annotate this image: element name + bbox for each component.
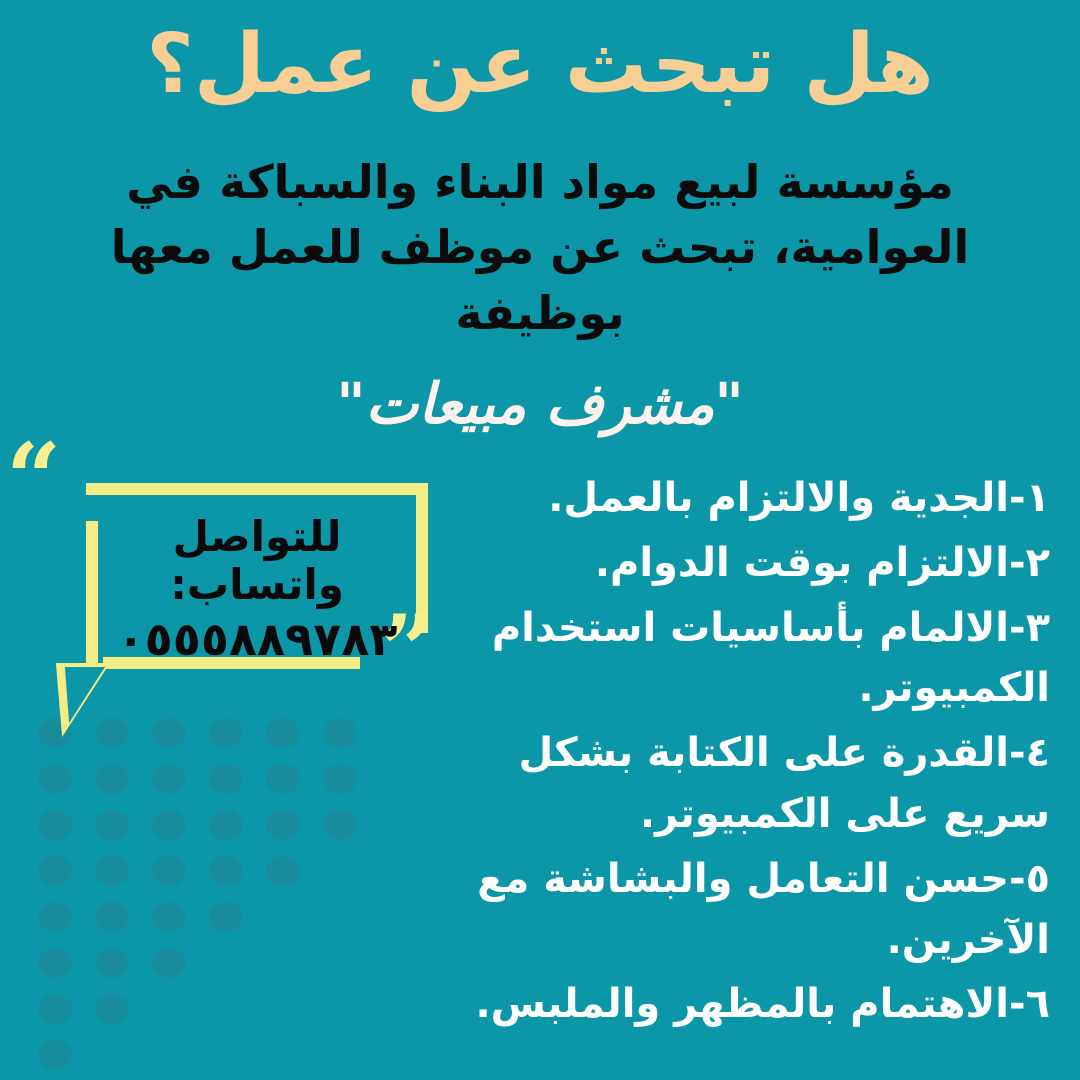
decorative-dot xyxy=(209,810,243,840)
decorative-dot xyxy=(323,764,357,794)
decorative-dot xyxy=(38,902,72,932)
decorative-dot xyxy=(38,1040,72,1070)
decorative-dot xyxy=(209,764,243,794)
list-item: ١-الجدية والالتزام بالعمل. xyxy=(440,468,1050,529)
decorative-dot xyxy=(38,764,72,794)
list-item: ٣-الالمام بأساسيات استخدام الكمبيوتر. xyxy=(440,598,1050,720)
decorative-dot xyxy=(209,902,243,932)
quote-open-icon: “ xyxy=(6,431,61,527)
decorative-dot xyxy=(95,948,129,978)
decorative-dot xyxy=(323,718,357,748)
decorative-dot xyxy=(152,718,186,748)
bubble-frame-top xyxy=(86,483,428,495)
decorative-dot xyxy=(95,856,129,886)
decorative-dot xyxy=(95,810,129,840)
bubble-tail-inner xyxy=(59,667,105,723)
bubble-frame-left xyxy=(86,521,98,669)
requirements-list: ١-الجدية والالتزام بالعمل. ٢-الالتزام بو… xyxy=(440,468,1050,1039)
page-title: هل تبحث عن عمل؟ xyxy=(0,22,1080,108)
contact-speech-bubble: “ ” للتواصل واتساب: ٠٥٥٥٨٨٩٧٨٣ xyxy=(28,483,428,669)
job-posting-poster: هل تبحث عن عمل؟ مؤسسة لبيع مواد البناء و… xyxy=(0,0,1080,1080)
job-title: "مشرف مبيعات" xyxy=(0,374,1080,436)
list-item: ٥-حسن التعامل والبشاشة مع الآخرين. xyxy=(440,849,1050,971)
contact-label: للتواصل واتساب: xyxy=(108,513,406,610)
decorative-dot xyxy=(95,764,129,794)
decorative-dot xyxy=(209,856,243,886)
intro-paragraph: مؤسسة لبيع مواد البناء والسباكة في العوا… xyxy=(72,150,1008,346)
decorative-dot xyxy=(38,856,72,886)
decorative-dot xyxy=(266,718,300,748)
list-item: ٢-الالتزام بوقت الدوام. xyxy=(440,533,1050,594)
decorative-dot xyxy=(266,764,300,794)
decorative-dot xyxy=(152,948,186,978)
decorative-dot-pattern xyxy=(0,700,340,1060)
decorative-dot xyxy=(38,994,72,1024)
decorative-dot xyxy=(95,902,129,932)
decorative-dot xyxy=(38,948,72,978)
decorative-dot xyxy=(266,856,300,886)
decorative-dot xyxy=(323,810,357,840)
decorative-dot xyxy=(209,718,243,748)
decorative-dot xyxy=(38,810,72,840)
contact-text-block: للتواصل واتساب: ٠٥٥٥٨٨٩٧٨٣ xyxy=(108,513,406,669)
list-item: ٦-الاهتمام بالمظهر والملبس. xyxy=(440,974,1050,1035)
decorative-dot xyxy=(95,994,129,1024)
decorative-dot xyxy=(152,856,186,886)
decorative-dot xyxy=(266,810,300,840)
list-item: ٤-القدرة على الكتابة بشكل سريع على الكمب… xyxy=(440,723,1050,845)
contact-phone-number[interactable]: ٠٥٥٥٨٨٩٧٨٣ xyxy=(108,610,406,670)
decorative-dot xyxy=(152,810,186,840)
decorative-dot xyxy=(152,902,186,932)
decorative-dot xyxy=(152,764,186,794)
